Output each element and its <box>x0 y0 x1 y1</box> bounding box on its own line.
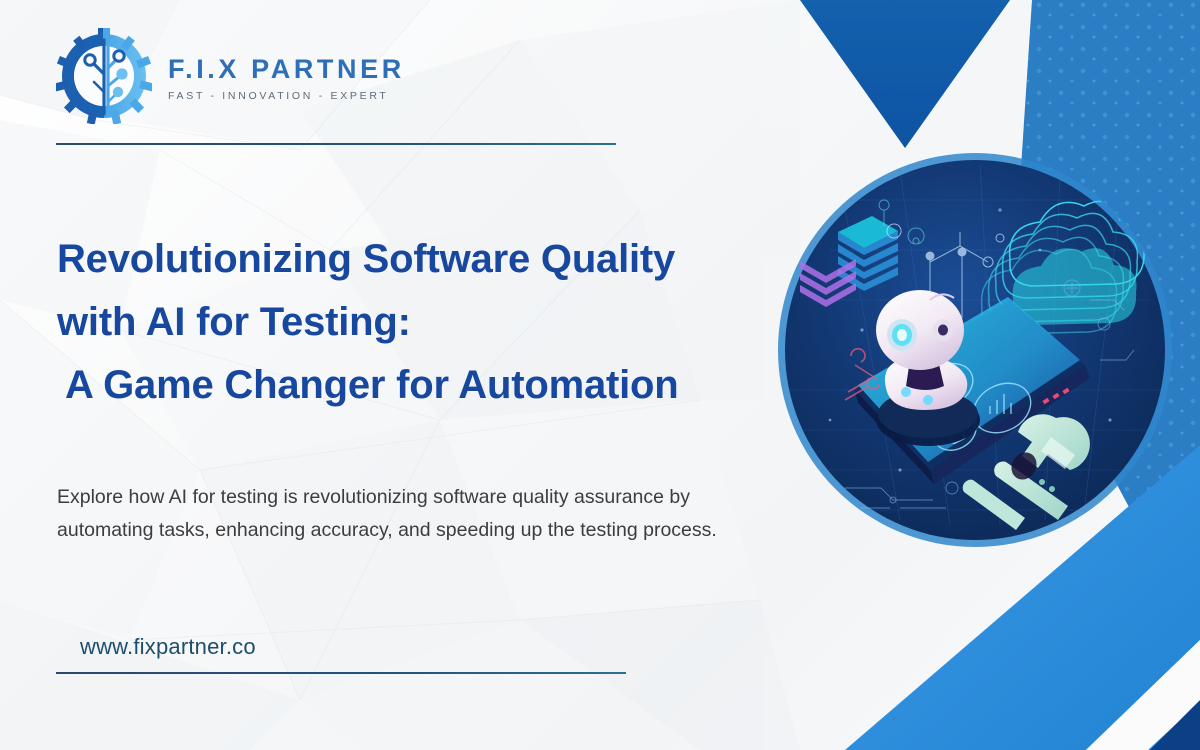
banner-canvas: F.I.X PARTNER FAST - INNOVATION - EXPERT… <box>0 0 1200 750</box>
gear-circuit-logo-icon <box>56 28 152 124</box>
brand-wordmark: F.I.X PARTNER FAST - INNOVATION - EXPERT <box>168 50 405 102</box>
subtitle-text: Explore how AI for testing is revolution… <box>57 481 772 547</box>
brand-name: F.I.X PARTNER <box>168 56 405 83</box>
header-divider <box>56 143 616 145</box>
headline-line-3: A Game Changer for Automation <box>57 354 777 417</box>
headline-line-2: with AI for Testing: <box>57 291 777 354</box>
footer-divider <box>56 672 626 674</box>
page-title: Revolutionizing Software Quality with AI… <box>57 228 777 417</box>
headline-line-1: Revolutionizing Software Quality <box>57 228 777 291</box>
brand-tagline: FAST - INNOVATION - EXPERT <box>168 90 405 102</box>
brand-header: F.I.X PARTNER FAST - INNOVATION - EXPERT <box>56 28 405 124</box>
website-url[interactable]: www.fixpartner.co <box>80 634 256 660</box>
